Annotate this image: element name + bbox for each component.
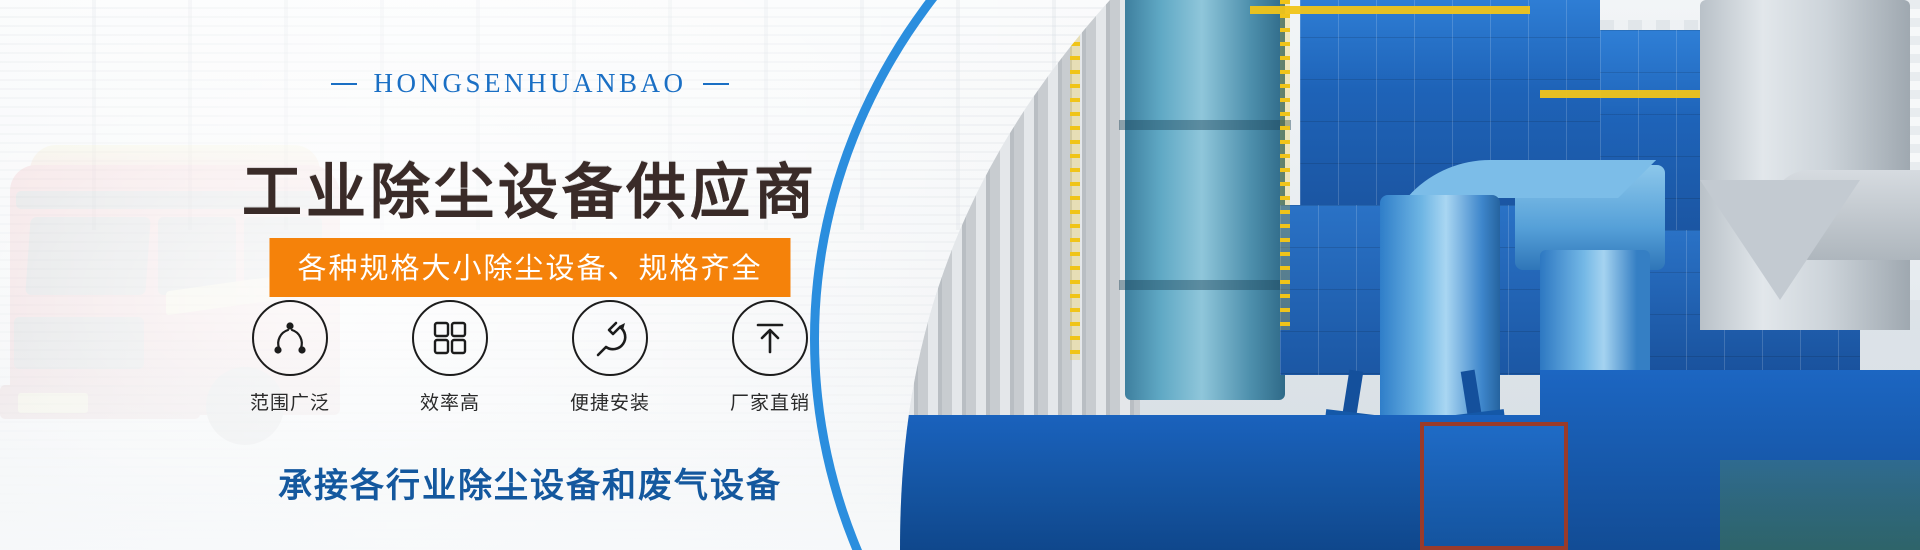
- feature-item-range[interactable]: 范围广泛: [242, 300, 338, 415]
- feature-item-install[interactable]: 便捷安装: [562, 300, 658, 415]
- subtitle-orange-bar: 各种规格大小除尘设备、规格齐全: [269, 238, 790, 297]
- teal-cylinder: [1125, 0, 1285, 400]
- network-nodes-icon: [252, 300, 328, 376]
- brand-eyebrow-text: HONGSENHUANBAO: [373, 68, 686, 99]
- arrow-up-bar-icon: [732, 300, 808, 376]
- feature-item-factory-direct[interactable]: 厂家直销: [722, 300, 818, 415]
- dash-left-icon: [331, 83, 357, 85]
- feature-label: 厂家直销: [730, 388, 810, 415]
- tagline-text: 承接各行业除尘设备和废气设备: [0, 458, 1060, 507]
- wrench-icon: [572, 300, 648, 376]
- plant-door: [1420, 422, 1568, 550]
- dash-right-icon: [703, 83, 729, 85]
- hero-banner: HONGSENHUANBAO 工业除尘设备供应商 各种规格大小除尘设备、规格齐全…: [0, 0, 1920, 550]
- yellow-ladder: [1070, 0, 1080, 360]
- feature-item-efficiency[interactable]: 效率高: [402, 300, 498, 415]
- yellow-ladder: [1280, 0, 1290, 330]
- grid-squares-icon: [412, 300, 488, 376]
- brand-eyebrow: HONGSENHUANBAO: [0, 68, 1060, 99]
- feature-label: 效率高: [420, 388, 480, 415]
- feature-label: 范围广泛: [250, 388, 330, 415]
- foliage-strip: [1720, 460, 1920, 550]
- yellow-railing: [1250, 6, 1530, 14]
- feature-label: 便捷安装: [570, 388, 650, 415]
- feature-list: 范围广泛 效率高: [242, 300, 818, 415]
- hero-content: HONGSENHUANBAO 工业除尘设备供应商 各种规格大小除尘设备、规格齐全…: [0, 0, 1060, 550]
- page-title: 工业除尘设备供应商: [0, 144, 1060, 231]
- hopper-cone: [1700, 180, 1860, 300]
